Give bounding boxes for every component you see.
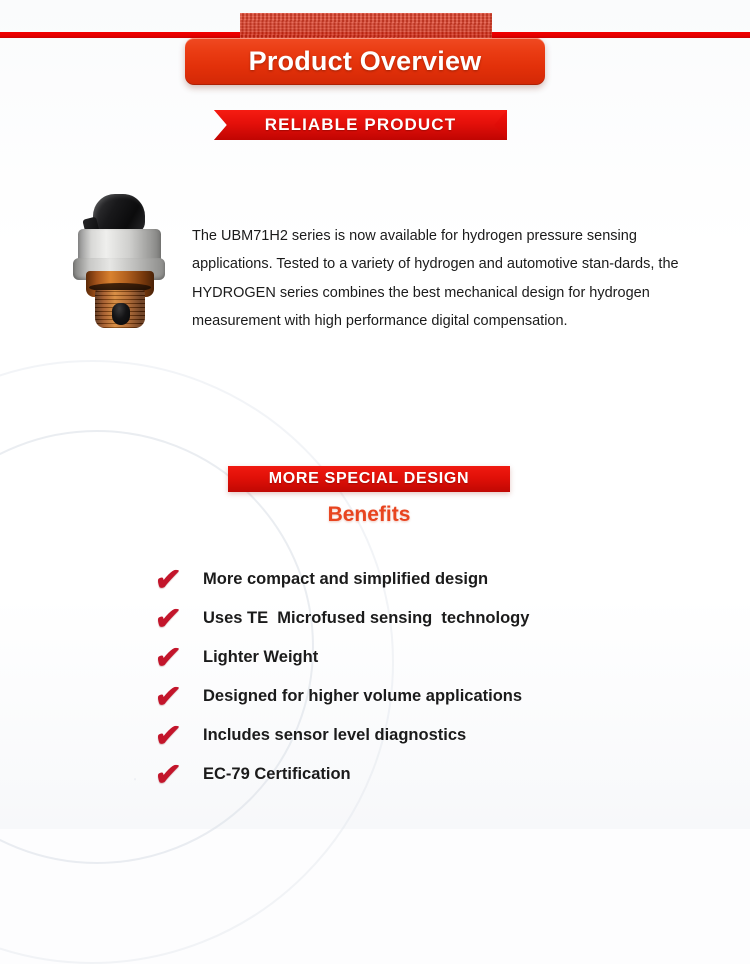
sensor-pressure-bore-icon bbox=[112, 303, 130, 325]
list-item: ✔ Uses TE Microfused sensing technology bbox=[155, 599, 715, 638]
list-item: ✔ EC-79 Certification bbox=[155, 755, 715, 794]
list-item: ✔ Designed for higher volume application… bbox=[155, 677, 715, 716]
list-item: ✔ More compact and simplified design bbox=[155, 560, 715, 599]
check-icon: ✔ bbox=[153, 681, 204, 712]
reliable-product-ribbon: RELIABLE PRODUCT bbox=[214, 110, 507, 140]
benefit-label: Lighter Weight bbox=[203, 648, 318, 667]
page-title: Product Overview bbox=[249, 46, 482, 77]
sensor-cap-icon bbox=[93, 194, 145, 234]
benefits-heading: Benefits bbox=[228, 503, 510, 527]
check-icon: ✔ bbox=[153, 603, 204, 634]
benefit-label: EC-79 Certification bbox=[203, 765, 351, 784]
benefits-list: ✔ More compact and simplified design ✔ U… bbox=[155, 560, 715, 794]
benefit-label: Uses TE Microfused sensing technology bbox=[203, 609, 529, 628]
check-icon: ✔ bbox=[153, 642, 204, 673]
check-icon: ✔ bbox=[153, 564, 204, 595]
list-item: ✔ Lighter Weight bbox=[155, 638, 715, 677]
check-icon: ✔ bbox=[153, 720, 204, 751]
reliable-product-label: RELIABLE PRODUCT bbox=[265, 115, 456, 135]
list-item: ✔ Includes sensor level diagnostics bbox=[155, 716, 715, 755]
more-special-design-banner: MORE SPECIAL DESIGN bbox=[228, 466, 510, 492]
product-description: The UBM71H2 series is now available for … bbox=[192, 222, 700, 336]
check-icon: ✔ bbox=[153, 759, 204, 790]
title-texture-block bbox=[240, 13, 492, 41]
benefit-label: Includes sensor level diagnostics bbox=[203, 726, 466, 745]
more-special-design-label: MORE SPECIAL DESIGN bbox=[269, 470, 470, 488]
page-title-banner: Product Overview bbox=[185, 38, 545, 85]
pressure-sensor-photo bbox=[66, 185, 186, 340]
benefit-label: More compact and simplified design bbox=[203, 570, 488, 589]
benefit-label: Designed for higher volume applications bbox=[203, 687, 522, 706]
